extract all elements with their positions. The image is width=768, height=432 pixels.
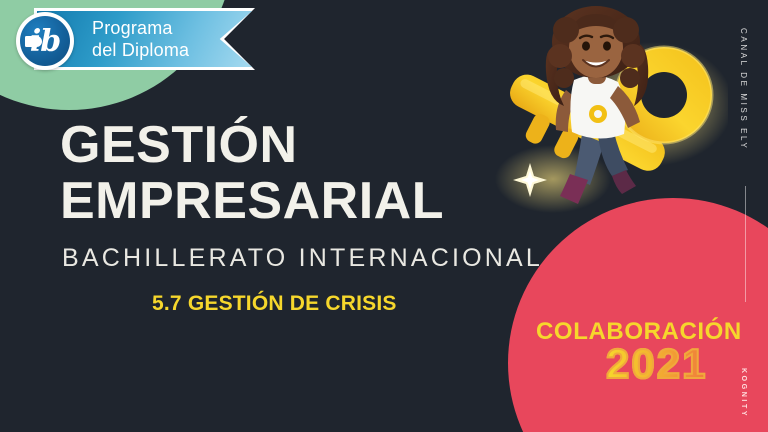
- banner-label: Programa del Diploma: [92, 17, 189, 61]
- headline-line-1: GESTIÓN: [60, 120, 543, 170]
- collaboration-year: 2021: [606, 340, 707, 388]
- slide-canvas: Programa del Diploma ib: [0, 0, 768, 432]
- unit-title: 5.7 GESTIÓN DE CRISIS: [152, 292, 397, 316]
- channel-credit-label: CANAL DE MISS ELY: [739, 28, 748, 150]
- ib-logo-letters: ib: [20, 16, 70, 66]
- brand-credit-label: KOGNITY: [740, 368, 747, 418]
- headline-subtitle: BACHILLERATO INTERNACIONAL: [62, 244, 543, 273]
- vertical-divider-line: [745, 186, 746, 302]
- headline-block: GESTIÓN EMPRESARIAL BACHILLERATO INTERNA…: [60, 120, 543, 273]
- headline-line-2: EMPRESARIAL: [60, 176, 543, 226]
- ib-diploma-banner: Programa del Diploma ib: [8, 8, 255, 70]
- red-circle-shape: [508, 198, 768, 432]
